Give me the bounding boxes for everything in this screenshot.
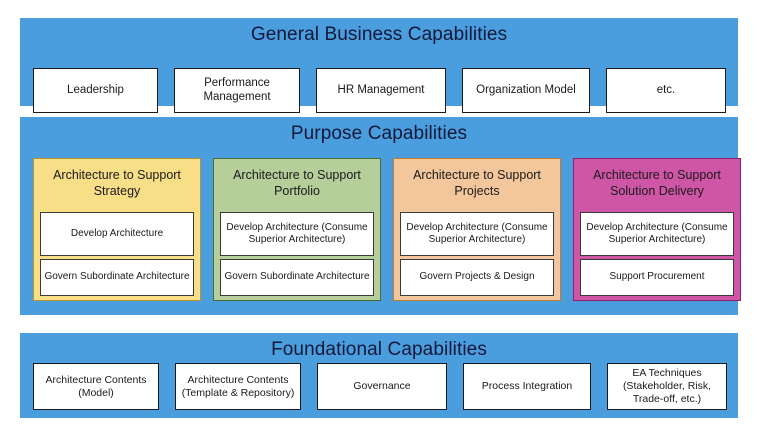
pillar-title: Architecture to Support Projects <box>394 159 560 199</box>
purpose-capabilities-title: Purpose Capabilities <box>20 117 738 143</box>
general-business-capabilities-title: General Business Capabilities <box>20 18 738 44</box>
sub-capability-label: Develop Architecture <box>71 228 163 241</box>
pillar-sub-capability-develop[interactable]: Develop Architecture <box>40 212 194 256</box>
capability-box-governance[interactable]: Governance <box>317 363 447 410</box>
pillar-sub-capability-govern[interactable]: Govern Subordinate Architecture <box>220 259 374 296</box>
purpose-pillar-solution-delivery[interactable]: Architecture to Support Solution Deliver… <box>573 158 741 301</box>
capability-model-diagram: General Business Capabilities Leadership… <box>0 0 760 436</box>
purpose-pillar-projects[interactable]: Architecture to Support Projects Develop… <box>393 158 561 301</box>
capability-label: Performance Management <box>178 77 296 104</box>
purpose-pillar-portfolio[interactable]: Architecture to Support Portfolio Develo… <box>213 158 381 301</box>
pillar-sub-capability-support-procurement[interactable]: Support Procurement <box>580 259 734 296</box>
sub-capability-label: Develop Architecture (Consume Superior A… <box>403 222 551 247</box>
purpose-capabilities-band: Purpose Capabilities Architecture to Sup… <box>20 117 738 315</box>
general-business-capabilities-band: General Business Capabilities Leadership… <box>20 18 738 106</box>
capability-label: Architecture Contents (Template & Reposi… <box>179 374 297 400</box>
capability-label: Organization Model <box>476 84 576 98</box>
pillar-title: Architecture to Support Solution Deliver… <box>574 159 740 199</box>
pillar-sub-capability-develop[interactable]: Develop Architecture (Consume Superior A… <box>580 212 734 256</box>
capability-label: Leadership <box>67 84 124 98</box>
foundational-capabilities-title: Foundational Capabilities <box>20 333 738 359</box>
capability-label: Architecture Contents (Model) <box>37 374 155 400</box>
capability-box-process-integration[interactable]: Process Integration <box>463 363 591 410</box>
pillar-title: Architecture to Support Strategy <box>34 159 200 199</box>
capability-box-leadership[interactable]: Leadership <box>33 68 158 113</box>
capability-box-etc[interactable]: etc. <box>606 68 726 113</box>
sub-capability-label: Govern Subordinate Architecture <box>44 271 189 284</box>
capability-label: Process Integration <box>482 380 572 393</box>
sub-capability-label: Support Procurement <box>609 271 704 284</box>
capability-box-ea-techniques[interactable]: EA Techniques (Stakeholder, Risk, Trade-… <box>607 363 727 410</box>
capability-box-architecture-contents-template-repository[interactable]: Architecture Contents (Template & Reposi… <box>175 363 301 410</box>
pillar-sub-capability-develop[interactable]: Develop Architecture (Consume Superior A… <box>220 212 374 256</box>
capability-box-hr-management[interactable]: HR Management <box>316 68 446 113</box>
capability-label: etc. <box>657 84 676 98</box>
capability-box-architecture-contents-model[interactable]: Architecture Contents (Model) <box>33 363 159 410</box>
sub-capability-label: Develop Architecture (Consume Superior A… <box>583 222 731 247</box>
pillar-sub-capability-develop[interactable]: Develop Architecture (Consume Superior A… <box>400 212 554 256</box>
capability-label: EA Techniques (Stakeholder, Risk, Trade-… <box>611 367 723 406</box>
sub-capability-label: Develop Architecture (Consume Superior A… <box>223 222 371 247</box>
capability-label: HR Management <box>338 84 425 98</box>
sub-capability-label: Govern Projects & Design <box>419 271 534 284</box>
purpose-pillar-strategy[interactable]: Architecture to Support Strategy Develop… <box>33 158 201 301</box>
capability-box-performance-management[interactable]: Performance Management <box>174 68 300 113</box>
pillar-sub-capability-govern[interactable]: Govern Subordinate Architecture <box>40 259 194 296</box>
foundational-capabilities-band: Foundational Capabilities Architecture C… <box>20 333 738 418</box>
pillar-title: Architecture to Support Portfolio <box>214 159 380 199</box>
capability-box-organization-model[interactable]: Organization Model <box>462 68 590 113</box>
sub-capability-label: Govern Subordinate Architecture <box>224 271 369 284</box>
pillar-sub-capability-govern[interactable]: Govern Projects & Design <box>400 259 554 296</box>
capability-label: Governance <box>353 380 410 393</box>
